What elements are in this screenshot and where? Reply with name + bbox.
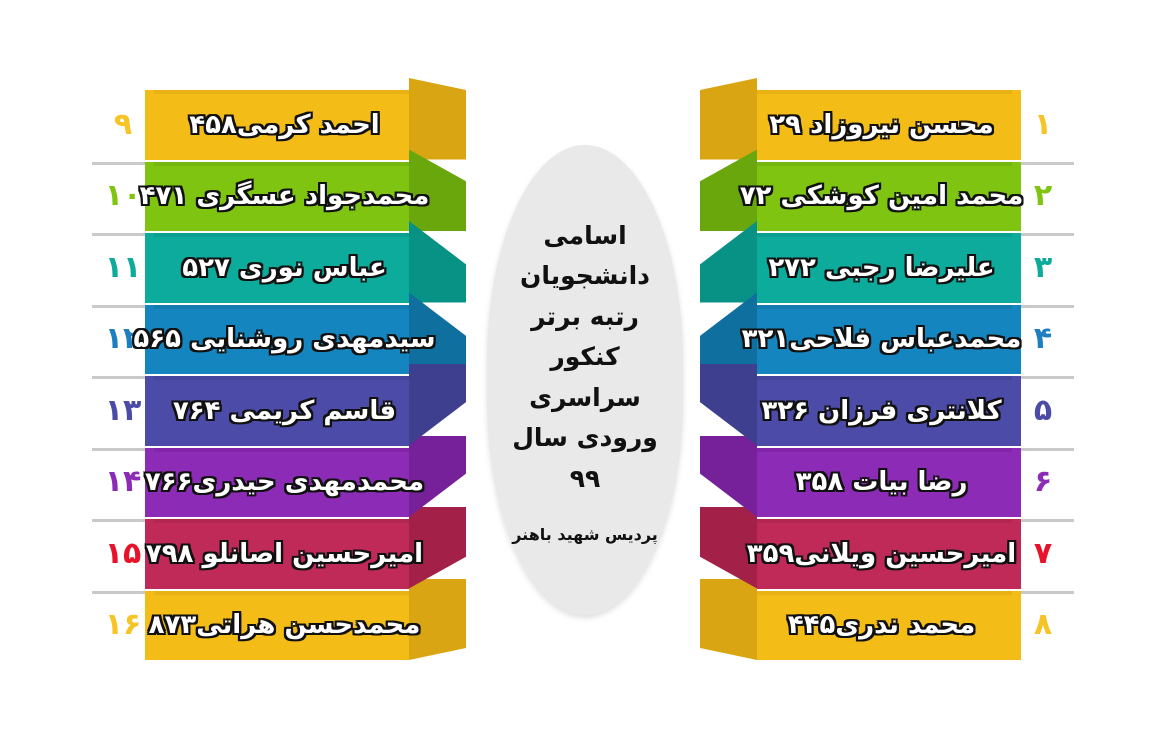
rank-cell: ۱۶ (92, 591, 154, 661)
student-name: محمد ندری۴۴۵ (757, 591, 1012, 661)
row-separator (1012, 519, 1074, 522)
student-row: محمدحسن هراتی۸۷۳ (154, 591, 409, 661)
rank-number: ۱۶ (105, 610, 142, 640)
rank-number: ۶ (1034, 467, 1052, 497)
student-name: محمدجواد عسگری ۴۷۱ (154, 162, 409, 232)
student-row: کلانتری فرزان ۳۲۶ (757, 376, 1012, 446)
rank-cell: ۵ (1012, 376, 1074, 446)
center-title-oval: اسامی دانشجویانرتبه برتر کنکور سراسریورو… (487, 145, 683, 615)
student-name: امیرحسین ویلانی۳۵۹ (757, 519, 1012, 589)
student-name: محمد امین کوشکی ۷۲ (757, 162, 1012, 232)
rank-number: ۱۵ (105, 539, 142, 569)
student-row: علیرضا رجبی ۲۷۲ (757, 233, 1012, 303)
student-name: محمدعباس فلاحی۳۲۱ (757, 305, 1012, 375)
rank-color-edge (145, 376, 154, 446)
student-row: احمد کرمی۴۵۸ (154, 90, 409, 160)
rank-cell: ۷ (1012, 519, 1074, 589)
rank-color-edge (145, 90, 154, 160)
student-name: محسن نیروزاد ۲۹ (757, 90, 1012, 160)
rank-number: ۱۴ (105, 467, 142, 497)
rank-color-edge (1012, 448, 1021, 518)
rank-cell: ۱۵ (92, 519, 154, 589)
funnel-bevel (700, 78, 757, 160)
student-name: محمدحسن هراتی۸۷۳ (154, 591, 409, 661)
rank-number: ۲ (1034, 181, 1052, 211)
student-row: محمدجواد عسگری ۴۷۱ (154, 162, 409, 232)
funnel-bevel (700, 579, 757, 661)
rank-number: ۸ (1034, 610, 1052, 640)
center-title-line: اسامی دانشجویان (505, 216, 665, 297)
rank-color-edge (1012, 90, 1021, 160)
student-name: سیدمهدی روشنایی ۵۶۵ (154, 305, 409, 375)
rank-cell: ۱ (1012, 90, 1074, 160)
rank-number: ۱ (1034, 110, 1052, 140)
center-title: اسامی دانشجویانرتبه برتر کنکور سراسریورو… (487, 216, 683, 500)
center-subtitle: پردیس شهید باهنر (512, 525, 658, 544)
rank-color-edge (1012, 376, 1021, 446)
rank-number: ۱۱ (105, 253, 142, 283)
student-name: علیرضا رجبی ۲۷۲ (757, 233, 1012, 303)
rank-number: ۱۳ (105, 396, 142, 426)
student-name: محمدمهدی حیدری۷۶۶ (154, 448, 409, 518)
rank-color-edge (1012, 591, 1021, 661)
student-row: عباس نوری ۵۲۷ (154, 233, 409, 303)
student-row: محمدمهدی حیدری۷۶۶ (154, 448, 409, 518)
student-name: احمد کرمی۴۵۸ (154, 90, 409, 160)
student-row: رضا بیات ۳۵۸ (757, 448, 1012, 518)
funnel-bevel (409, 364, 466, 446)
rank-number: ۵ (1034, 396, 1052, 426)
student-row: محمدعباس فلاحی۳۲۱ (757, 305, 1012, 375)
rank-cell: ۹ (92, 90, 154, 160)
funnel-bevel (700, 364, 757, 446)
rank-number: ۷ (1034, 539, 1052, 569)
row-separator (1012, 591, 1074, 594)
funnel-bevel (409, 221, 466, 303)
student-name: کلانتری فرزان ۳۲۶ (757, 376, 1012, 446)
student-row: سیدمهدی روشنایی ۵۶۵ (154, 305, 409, 375)
student-row: قاسم کریمی ۷۶۴ (154, 376, 409, 446)
center-title-line: رتبه برتر کنکور سراسری (505, 297, 665, 419)
rank-cell: ۸ (1012, 591, 1074, 661)
row-separator (1012, 305, 1074, 308)
rank-color-edge (1012, 233, 1021, 303)
row-separator (1012, 376, 1074, 379)
rank-cell: ۱۳ (92, 376, 154, 446)
student-name: رضا بیات ۳۵۸ (757, 448, 1012, 518)
student-name: امیرحسین اصانلو ۷۹۸ (154, 519, 409, 589)
rank-cell: ۳ (1012, 233, 1074, 303)
rank-number: ۴ (1034, 324, 1052, 354)
rank-cell: ۱۱ (92, 233, 154, 303)
infographic-canvas: ۱محسن نیروزاد ۲۹۲محمد امین کوشکی ۷۲۳علیر… (0, 0, 1166, 751)
student-row: امیرحسین اصانلو ۷۹۸ (154, 519, 409, 589)
row-separator (1012, 162, 1074, 165)
row-separator (1012, 90, 1074, 93)
student-name: عباس نوری ۵۲۷ (154, 233, 409, 303)
row-separator (1012, 448, 1074, 451)
student-row: محمد ندری۴۴۵ (757, 591, 1012, 661)
center-title-line: ورودی سال ۹۹ (505, 418, 665, 499)
funnel-bevel (700, 436, 757, 518)
funnel-bevel (409, 78, 466, 160)
row-separator (1012, 233, 1074, 236)
rank-cell: ۶ (1012, 448, 1074, 518)
student-row: امیرحسین ویلانی۳۵۹ (757, 519, 1012, 589)
student-name: قاسم کریمی ۷۶۴ (154, 376, 409, 446)
funnel-bevel (700, 221, 757, 303)
rank-number: ۱۰ (105, 181, 142, 211)
student-row: محسن نیروزاد ۲۹ (757, 90, 1012, 160)
student-row: محمد امین کوشکی ۷۲ (757, 162, 1012, 232)
rank-color-edge (145, 233, 154, 303)
rank-number: ۳ (1034, 253, 1052, 283)
rank-number: ۹ (114, 110, 132, 140)
